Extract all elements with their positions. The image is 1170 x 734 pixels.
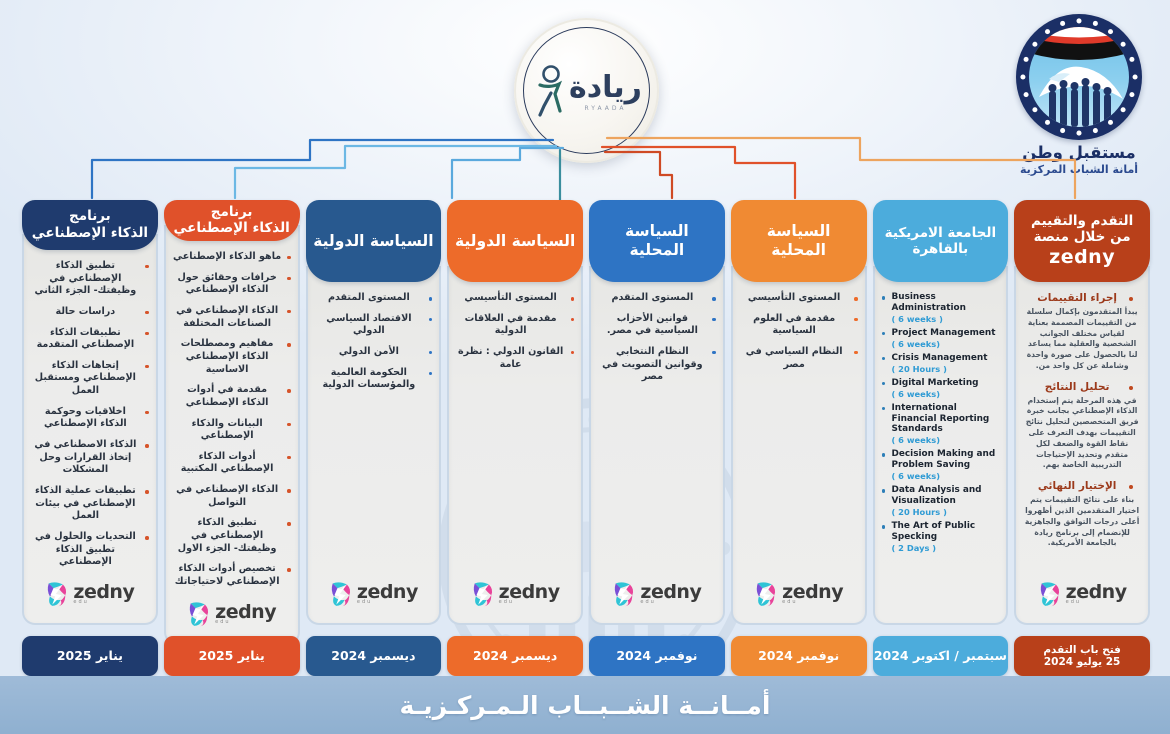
course-name: Decision Making and Problem Saving xyxy=(892,449,996,470)
party-emblem xyxy=(1016,14,1142,140)
course-item: International Financial Reporting Standa… xyxy=(882,403,1000,446)
zedny-wordmark: zednyedu xyxy=(499,584,560,604)
column-header-auc[interactable]: الجامعة الامريكيةبالقاهرة xyxy=(873,200,1009,282)
progress-block-title: تحليل النتائج xyxy=(1023,381,1141,393)
zedny-logo: zednyedu xyxy=(31,577,149,615)
progress-block: الإختيار النهائيبناء على نتائج التقييمات… xyxy=(1023,480,1141,549)
header-line-1: السياسة الدولية xyxy=(313,232,433,250)
logo-wordmark: ريادة xyxy=(569,70,642,105)
zedny-mark-icon xyxy=(1038,581,1062,607)
infographic-root: ريادة RYAADA xyxy=(0,0,1170,734)
topic-item: المستوى المتقدم xyxy=(598,292,716,305)
topic-item: الذكاء الاصطناعي في إتخاذ القرارات وحل ا… xyxy=(31,439,149,477)
column-progress-evaluation: التقدم والتقييممن خلال منصةzednyإجراء ال… xyxy=(1014,200,1150,625)
logo-subtext: RYAADA xyxy=(569,105,642,112)
course-duration: ( 6 weeks) xyxy=(892,471,1000,481)
progress-block: تحليل النتائجفي هذه المرحلة يتم إستخدام … xyxy=(1023,381,1141,471)
progress-block-text: بناء على نتائج التقييمات يتم اختيار المت… xyxy=(1023,495,1141,549)
column-body-local-policy-foundation: المستوى التأسيسيمقدمة في العلوم السياسية… xyxy=(731,266,867,625)
progress-block-text: في هذه المرحلة يتم إستخدام الذكاء الإصطن… xyxy=(1023,396,1141,471)
topic-item: التحديات والحلول في تطبيق الذكاء الإصطنا… xyxy=(31,531,149,569)
date-line-1: فتح باب التقدم xyxy=(1043,644,1121,656)
topic-item: الذكاء الإصطناعي في الصناعات المختلفة xyxy=(173,305,291,330)
topic-list: تطبيق الذكاء الإصطناعي في وظيفتك- الجزء … xyxy=(31,260,149,577)
column-ai-program-1: برنامجالذكاء الإصطناعيماهو الذكاء الإصطن… xyxy=(164,200,300,625)
column-ai-program-2: برنامجالذكاء الإصطناعيتطبيق الذكاء الإصط… xyxy=(22,200,158,625)
header-line-1: الجامعة الامريكية xyxy=(885,225,996,241)
column-header-ai-program-2[interactable]: برنامجالذكاء الإصطناعي xyxy=(22,200,158,250)
column-body-local-policy-advanced: المستوى المتقدمقوانين الأحزاب السياسية ف… xyxy=(589,266,725,625)
topic-item: البيانات والذكاء الإصطناعي xyxy=(173,418,291,443)
zedny-logo: zednyedu xyxy=(1023,577,1141,615)
topic-list: المستوى التأسيسيمقدمة في العلاقات الدولي… xyxy=(456,292,574,379)
course-name: Data Analysis and Visualization xyxy=(892,485,982,506)
topic-item: أدوات الذكاء الإصطناعي المكتبية xyxy=(173,451,291,476)
date-pill-ai-program-2[interactable]: يناير 2025 xyxy=(22,636,158,676)
column-intl-policy-foundation: السياسة الدوليةالمستوى التأسيسيمقدمة في … xyxy=(447,200,583,625)
topic-list: المستوى المتقدمقوانين الأحزاب السياسية ف… xyxy=(598,292,716,392)
course-item: Data Analysis and Visualization( 20 Hour… xyxy=(882,485,1000,517)
header-line-2: بالقاهرة xyxy=(913,241,969,257)
column-header-ai-program-1[interactable]: برنامجالذكاء الإصطناعي xyxy=(164,200,300,241)
topic-item: المستوى التأسيسي xyxy=(740,292,858,305)
topic-item: تطبيقات الذكاء الإصطناعي المتقدمة xyxy=(31,327,149,352)
zedny-logo: zednyedu xyxy=(598,577,716,615)
column-header-intl-policy-foundation[interactable]: السياسة الدولية xyxy=(447,200,583,282)
header-line-1: برنامج xyxy=(211,204,253,220)
topic-item: النظام السياسي في مصر xyxy=(740,346,858,371)
topic-item: المستوى التأسيسي xyxy=(456,292,574,305)
zedny-logo: zednyedu xyxy=(456,577,574,615)
column-local-policy-foundation: السياسة المحليةالمستوى التأسيسيمقدمة في … xyxy=(731,200,867,625)
party-logo: مستقبل وطن أمانة الشباب المركزية xyxy=(996,14,1162,194)
topic-item: مقدمة في العلوم السياسية xyxy=(740,313,858,338)
date-pill-auc[interactable]: سبتمبر / اكتوبر 2024 xyxy=(873,636,1009,676)
course-item: Project Management( 6 weeks) xyxy=(882,328,1000,349)
course-duration: ( 6 weeks) xyxy=(892,435,1000,445)
course-name: Project Management xyxy=(892,328,996,338)
column-header-local-policy-foundation[interactable]: السياسة المحلية xyxy=(731,200,867,282)
zedny-wordmark: zednyedu xyxy=(215,604,276,624)
column-body-ai-program-2: تطبيق الذكاء الإصطناعي في وظيفتك- الجزء … xyxy=(22,234,158,625)
progress-block: إجراء التقييماتيبدأ المتقدمون بإكمال سلس… xyxy=(1023,292,1141,372)
header-zedny-word: zedny xyxy=(1031,246,1133,269)
date-pill-ai-program-1[interactable]: يناير 2025 xyxy=(164,636,300,676)
topic-item: مفاهيم ومصطلحات الذكاء الإصطناعي الاساسي… xyxy=(173,338,291,376)
zedny-wordmark: zednyedu xyxy=(73,584,134,604)
header-line-2: من خلال منصة xyxy=(1034,229,1131,245)
header-line-1: السياسة الدولية xyxy=(455,232,575,250)
course-item: The Art of Public Specking( 2 Days ) xyxy=(882,521,1000,553)
zedny-mark-icon xyxy=(612,581,636,607)
zedny-mark-icon xyxy=(471,581,495,607)
course-item: Business Administration( 6 weeks ) xyxy=(882,292,1000,324)
topic-item: المستوى المتقدم xyxy=(315,292,433,305)
party-subtitle: أمانة الشباب المركزية xyxy=(996,163,1162,176)
zedny-wordmark: zednyedu xyxy=(640,584,701,604)
topic-list: المستوى المتقدمالاقتصاد السياسي الدوليال… xyxy=(315,292,433,400)
column-body-progress-evaluation: إجراء التقييماتيبدأ المتقدمون بإكمال سلس… xyxy=(1014,266,1150,625)
topic-item: تطبيقات عملية الذكاء الإصطناعي في بيئات … xyxy=(31,485,149,523)
topic-item: القانون الدولي : نظرة عامة xyxy=(456,346,574,371)
topic-list: ماهو الذكاء الإصطناعيخرافات وحقائق حول ا… xyxy=(173,251,291,597)
course-duration: ( 6 weeks) xyxy=(892,389,1000,399)
column-body-auc: Business Administration( 6 weeks )Projec… xyxy=(873,266,1009,625)
course-item: Digital Marketing( 6 weeks) xyxy=(882,378,1000,399)
progress-block-title: إجراء التقييمات xyxy=(1023,292,1141,304)
topic-item: مقدمة في العلاقات الدولية xyxy=(456,313,574,338)
logo-person-icon xyxy=(531,65,565,117)
topic-item: تطبيق الذكاء الإصطناعي في وظيفتك- الجزء … xyxy=(173,517,291,555)
course-name: Business Administration xyxy=(892,292,966,313)
header-line-1: التقدم والتقييم xyxy=(1031,213,1133,229)
date-pill-intl-policy-advanced[interactable]: ديسمبر 2024 xyxy=(306,636,442,676)
zedny-wordmark: zednyedu xyxy=(1066,584,1127,604)
header-line-1: برنامج xyxy=(69,208,111,224)
zedny-wordmark: zednyedu xyxy=(782,584,843,604)
course-name: International Financial Reporting Standa… xyxy=(892,403,990,435)
column-header-local-policy-advanced[interactable]: السياسة المحلية xyxy=(589,200,725,282)
program-columns: برنامجالذكاء الإصطناعيتطبيق الذكاء الإصط… xyxy=(22,200,1150,625)
progress-block-text: يبدأ المتقدمون بإكمال سلسلة من التقييمات… xyxy=(1023,307,1141,372)
course-name: The Art of Public Specking xyxy=(892,521,976,542)
party-name: مستقبل وطن xyxy=(996,143,1162,162)
course-duration: ( 20 Hours ) xyxy=(892,507,1000,517)
zedny-logo: zednyedu xyxy=(315,577,433,615)
topic-list: المستوى التأسيسيمقدمة في العلوم السياسية… xyxy=(740,292,858,379)
topic-item: خرافات وحقائق حول الذكاء الإصطناعي xyxy=(173,272,291,297)
course-name: Crisis Management xyxy=(892,353,988,363)
zedny-mark-icon xyxy=(45,581,69,607)
column-auc: الجامعة الامريكيةبالقاهرةBusiness Admini… xyxy=(873,200,1009,625)
riyada-logo: ريادة RYAADA xyxy=(514,18,659,163)
topic-item: الاقتصاد السياسي الدولي xyxy=(315,313,433,338)
date-line-2: 25 يوليو 2024 xyxy=(1044,656,1121,668)
column-body-ai-program-1: ماهو الذكاء الإصطناعيخرافات وحقائق حول ا… xyxy=(164,225,300,645)
column-body-intl-policy-advanced: المستوى المتقدمالاقتصاد السياسي الدوليال… xyxy=(306,266,442,625)
zedny-mark-icon xyxy=(754,581,778,607)
course-item: Decision Making and Problem Saving( 6 we… xyxy=(882,449,1000,481)
column-intl-policy-advanced: السياسة الدوليةالمستوى المتقدمالاقتصاد ا… xyxy=(306,200,442,625)
zedny-logo: zednyedu xyxy=(173,597,291,635)
date-pill-progress-evaluation[interactable]: فتح باب التقدم25 يوليو 2024 xyxy=(1014,636,1150,676)
column-header-intl-policy-advanced[interactable]: السياسة الدولية xyxy=(306,200,442,282)
date-pill-local-policy-advanced[interactable]: نوفمبر 2024 xyxy=(589,636,725,676)
topic-item: تخصيص أدوات الذكاء الإصطناعي لاحتياجاتك xyxy=(173,563,291,588)
topic-item: تطبيق الذكاء الإصطناعي في وظيفتك- الجزء … xyxy=(31,260,149,298)
column-body-intl-policy-foundation: المستوى التأسيسيمقدمة في العلاقات الدولي… xyxy=(447,266,583,625)
course-duration: ( 2 Days ) xyxy=(892,543,1000,553)
progress-block-title: الإختيار النهائي xyxy=(1023,480,1141,492)
topic-item: ماهو الذكاء الإصطناعي xyxy=(173,251,291,264)
date-pill-local-policy-foundation[interactable]: نوفمبر 2024 xyxy=(731,636,867,676)
column-header-progress-evaluation[interactable]: التقدم والتقييممن خلال منصةzedny xyxy=(1014,200,1150,282)
course-duration: ( 20 Hours ) xyxy=(892,364,1000,374)
footer-band: أمــانــة الشــبــاب الـمـركـزيـة xyxy=(0,676,1170,734)
header-line-2: الذكاء الإصطناعي xyxy=(173,220,289,236)
zedny-wordmark: zednyedu xyxy=(357,584,418,604)
course-item: Crisis Management( 20 Hours ) xyxy=(882,353,1000,374)
timeline-dates: يناير 2025يناير 2025ديسمبر 2024ديسمبر 20… xyxy=(22,636,1150,676)
course-duration: ( 6 weeks) xyxy=(892,339,1000,349)
date-pill-intl-policy-foundation[interactable]: ديسمبر 2024 xyxy=(447,636,583,676)
topic-item: اخلاقيات وحوكمة الذكاء الإصطناعي xyxy=(31,406,149,431)
header-line-2: الذكاء الإصطناعي xyxy=(32,225,148,241)
course-list: Business Administration( 6 weeks )Projec… xyxy=(882,292,1000,557)
header-line-1: السياسة المحلية xyxy=(767,222,831,259)
zedny-mark-icon xyxy=(329,581,353,607)
zedny-logo: zednyedu xyxy=(740,577,858,615)
zedny-mark-icon xyxy=(187,601,211,627)
topic-item: الذكاء الإصطناعي في التواصل xyxy=(173,484,291,509)
footer-title: أمــانــة الشــبــاب الـمـركـزيـة xyxy=(400,691,771,720)
column-local-policy-advanced: السياسة المحليةالمستوى المتقدمقوانين الأ… xyxy=(589,200,725,625)
topic-item: الحكومة العالمية والمؤسسات الدولية xyxy=(315,367,433,392)
topic-item: النظام النتخابي وقوانين التصويت في مصر xyxy=(598,346,716,384)
course-name: Digital Marketing xyxy=(892,378,979,388)
course-duration: ( 6 weeks ) xyxy=(892,314,1000,324)
emblem-dots xyxy=(1016,14,1142,140)
topic-item: مقدمة في أدوات الذكاء الإصطناعي xyxy=(173,384,291,409)
topic-item: دراسات حالة xyxy=(31,306,149,319)
topic-item: إتجاهات الذكاء الإصطناعي ومستقبل العمل xyxy=(31,360,149,398)
topic-item: قوانين الأحزاب السياسية في مصر. xyxy=(598,313,716,338)
topic-item: الأمن الدولي xyxy=(315,346,433,359)
header-line-1: السياسة المحلية xyxy=(625,222,689,259)
